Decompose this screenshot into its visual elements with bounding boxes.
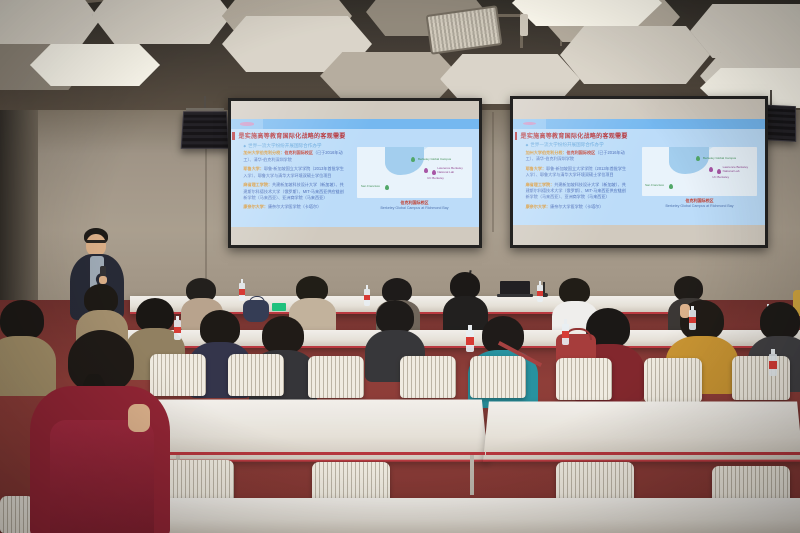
- slide-subtitle: 世界一流大学纷纷开展国际合作办学: [243, 143, 321, 149]
- chair: [400, 356, 456, 398]
- chair: [470, 356, 526, 398]
- bullet-key: 耶鲁大学：: [243, 166, 263, 171]
- water-bottle: [174, 320, 181, 340]
- slide-bullet: 麻省理工学院：共建新加坡科技设计大学（新加坡）、共建斯尔科德技术大学（俄罗斯）、…: [526, 182, 629, 201]
- slide-map-figure: Berkeley Global Campus Lawrence Berkeley…: [357, 147, 471, 212]
- slide-title: 是实施高等教育国际化战略的客观需要: [238, 131, 345, 140]
- water-bottle: [689, 310, 696, 330]
- map-caption-en: Berkeley Global Campus at Richmond Bay: [357, 206, 471, 210]
- chair: [0, 496, 34, 533]
- map-pin-uc-berkeley: [717, 169, 721, 174]
- chair: [644, 358, 702, 402]
- chair: [556, 358, 612, 400]
- water-bottle: [537, 285, 543, 302]
- slide-bullet: 耶鲁大学：耶鲁-新加坡国立大学学院（2013年首批学生入学）、耶鲁大学与清华大学…: [243, 166, 345, 179]
- air-conditioner-unit: [426, 5, 503, 55]
- map-label-berkeley-global-campus: Berkeley Global Campus: [418, 157, 451, 161]
- map-canvas: Berkeley Global Campus Lawrence Berkeley…: [357, 147, 471, 198]
- bullet-key: 康奈尔大学：: [243, 204, 268, 209]
- foreground-hand: [128, 404, 150, 432]
- slide-subtitle: 世界一流大学纷纷开展国际合作办学: [526, 142, 604, 148]
- water-bottle: [769, 354, 777, 376]
- map-pin-lawrence-berkeley-national-lab: [424, 168, 428, 173]
- slide-bullet-list: 加州大学伯克利分校：伯克利国际校区（已于2016年动工）、清华-伯克利深圳学院 …: [526, 150, 629, 214]
- presenter-head: [86, 234, 106, 256]
- bullet-key: 耶鲁大学：: [526, 166, 546, 171]
- map-caption-en: Berkeley Global Campus at Richmond Bay: [642, 204, 758, 208]
- chair: [228, 354, 284, 396]
- map-caption: 伯克利国际校区 Berkeley Global Campus at Richmo…: [357, 200, 471, 210]
- water-bottle: [364, 289, 370, 306]
- map-label-san-francisco: San Francisco: [645, 183, 664, 187]
- slide-title: 是实施高等教育国际化战略的客观需要: [521, 131, 628, 140]
- chair: [308, 356, 364, 398]
- slide-bullet: 加州大学伯克利分校：伯克利国际校区（已于2016年动工）、清华-伯克利深圳学院: [526, 150, 629, 163]
- slide-navbar: 实施意义 战略规划 实施路径: [513, 119, 765, 129]
- water-bottle: [466, 330, 474, 352]
- chair: [732, 356, 790, 400]
- left-screen-slide: 实施意义 战略规划 实施路径 是实施高等教育国际化战略的客观需要 世界一流大学纷…: [231, 119, 479, 227]
- bullet-key: 麻省理工学院：: [243, 182, 272, 187]
- right-screen: 实施意义 战略规划 实施路径 是实施高等教育国际化战略的客观需要 世界一流大学纷…: [510, 96, 768, 248]
- right-screen-slide: 实施意义 战略规划 实施路径 是实施高等教育国际化战略的客观需要 世界一流大学纷…: [513, 119, 765, 225]
- bullet-key: 加州大学伯克利分校：: [243, 150, 284, 155]
- slide-bullet: 康奈尔大学：康奈尔大学医学院（卡塔尔）: [526, 204, 629, 210]
- bullet-text: 康奈尔大学医学院（卡塔尔）: [268, 204, 321, 209]
- slide-bullet-list: 加州大学伯克利分校：伯克利国际校区（已于2016年动工）、清华-伯克利深圳学院 …: [243, 150, 345, 214]
- glasses-icon: [86, 240, 106, 243]
- phone-on-table: [272, 303, 286, 311]
- slide-bullet: 麻省理工学院：共建新加坡科技设计大学（新加坡）、共建斯尔科德技术大学（俄罗斯）、…: [243, 182, 345, 201]
- bullet-key: 麻省理工学院：: [526, 182, 555, 187]
- org-logo-icon: [231, 119, 263, 129]
- left-screen: 实施意义 战略规划 实施路径 是实施高等教育国际化战略的客观需要 世界一流大学纷…: [228, 98, 482, 248]
- slide-bullet: 耶鲁大学：耶鲁-新加坡国立大学学院（2013年首批学生入学）、耶鲁大学与清华大学…: [526, 166, 629, 179]
- slide-map-figure: Berkeley Global Campus Lawrence Berkeley…: [642, 147, 758, 211]
- map-label-uc-berkeley: UC Berkeley: [712, 175, 729, 179]
- map-label-lawrence-berkeley-national-lab: Lawrence Berkeley National Lab: [723, 166, 758, 173]
- water-bottle: [239, 283, 245, 301]
- map-label-san-francisco: San Francisco: [361, 184, 380, 188]
- presenter-hand: [99, 276, 107, 284]
- slide-navbar: 实施意义 战略规划 实施路径: [231, 119, 479, 129]
- map-label-berkeley-global-campus: Berkeley Global Campus: [703, 156, 736, 160]
- wall-left-column: [0, 110, 38, 310]
- ceiling-sprinkler: [520, 14, 528, 36]
- handbag-strap: [249, 296, 265, 304]
- slide-bullet: 加州大学伯克利分校：伯克利国际校区（已于2016年动工）、清华-伯克利深圳学院: [243, 150, 345, 163]
- map-label-uc-berkeley: UC Berkeley: [427, 176, 444, 180]
- map-label-lawrence-berkeley-national-lab: Lawrence Berkeley National Lab: [437, 167, 471, 174]
- slide-bullet: 康奈尔大学：康奈尔大学医学院（卡塔尔）: [243, 204, 345, 210]
- bullet-emphasis: 伯克利国际校区: [284, 150, 313, 155]
- map-caption: 伯克利国际校区 Berkeley Global Campus at Richmo…: [642, 198, 758, 208]
- map-pin-uc-berkeley: [432, 170, 436, 175]
- lecture-hall-photo: 实施意义 战略规划 实施路径 是实施高等教育国际化战略的客观需要 世界一流大学纷…: [0, 0, 800, 533]
- map-pin-lawrence-berkeley-national-lab: [709, 167, 713, 172]
- foreground-table: [88, 498, 800, 533]
- water-bottle: [562, 324, 569, 345]
- foreground-audience-member: [30, 330, 170, 533]
- bullet-emphasis: 伯克利国际校区: [567, 150, 596, 155]
- bullet-key: 康奈尔大学：: [526, 204, 551, 209]
- bullet-text: 康奈尔大学医学院（卡塔尔）: [550, 204, 603, 209]
- org-logo-icon: [513, 119, 546, 129]
- bullet-key: 加州大学伯克利分校：: [526, 150, 567, 155]
- map-canvas: Berkeley Global Campus Lawrence Berkeley…: [642, 147, 758, 197]
